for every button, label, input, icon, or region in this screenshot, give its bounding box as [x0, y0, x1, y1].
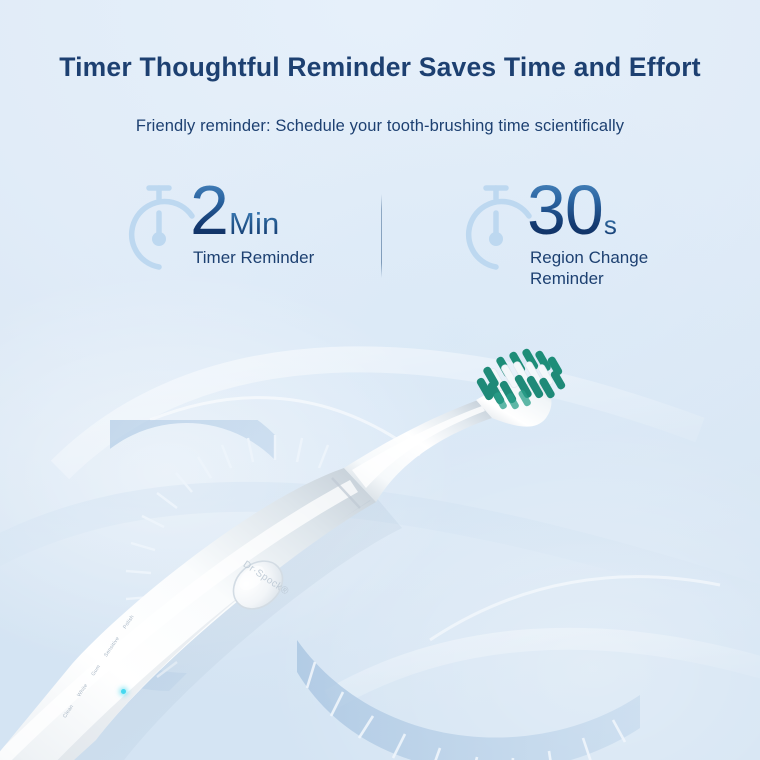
- feature-text: 30 s Region Change Reminder: [527, 176, 648, 290]
- led-indicator-icon: [121, 689, 126, 694]
- metric-unit: Min: [229, 210, 280, 239]
- timer-arc-decoration-right: [285, 600, 645, 760]
- feature-text: 2 Min Timer Reminder: [190, 176, 314, 269]
- mode-label: Sensitive: [103, 636, 121, 658]
- background-sheen: [0, 0, 760, 760]
- mode-label: Gum: [90, 664, 102, 677]
- mode-label: Clean: [62, 704, 75, 719]
- metric-number: 2: [190, 178, 228, 242]
- mode-label-group: Clean White Gum Sensitive Polish: [62, 614, 136, 719]
- feature-divider: [381, 194, 382, 278]
- metric-label: Timer Reminder: [193, 248, 314, 269]
- background-wave-decoration: [0, 0, 760, 760]
- mode-label: White: [76, 683, 89, 698]
- brand-logo: Dr·Spock®: [241, 559, 291, 598]
- feature-row: 2 Min Timer Reminder: [0, 176, 760, 311]
- metric-label: Region Change Reminder: [530, 248, 648, 289]
- metric-number: 30: [527, 178, 603, 242]
- page-subtitle: Friendly reminder: Schedule your tooth-b…: [0, 117, 760, 136]
- metric-value: 2 Min: [190, 178, 314, 242]
- product-marketing-banner: Timer Thoughtful Reminder Saves Time and…: [0, 0, 760, 760]
- metric-value: 30 s: [527, 178, 648, 242]
- feature-timer-reminder: 2 Min Timer Reminder: [118, 176, 314, 311]
- product-image-toothbrush: Dr·Spock® Clean White Gum Sensitive Poli…: [0, 0, 760, 760]
- timer-arc-decoration-left: [110, 420, 440, 750]
- metric-unit: s: [604, 214, 617, 238]
- page-title: Timer Thoughtful Reminder Saves Time and…: [0, 52, 760, 83]
- feature-region-change-reminder: 30 s Region Change Reminder: [455, 176, 648, 311]
- mode-label: Polish: [122, 614, 136, 630]
